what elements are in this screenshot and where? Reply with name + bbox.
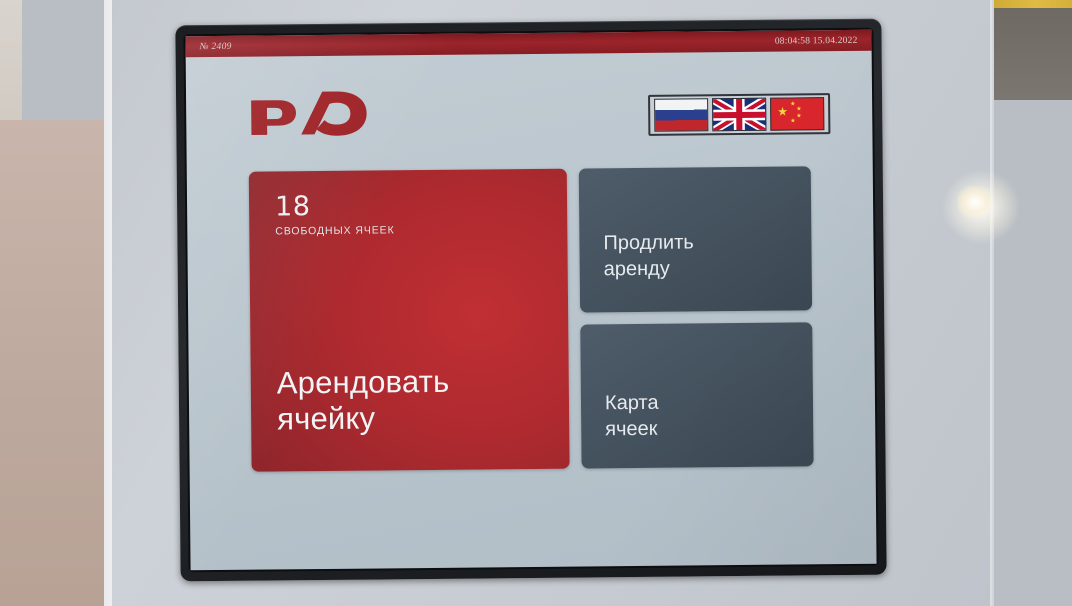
- main-menu: 18 СВОБОДНЫХ ЯЧЕЕК Арендовать ячейку Про…: [249, 166, 814, 471]
- housing-glare-hotspot: [957, 186, 993, 218]
- rent-cell-button[interactable]: 18 СВОБОДНЫХ ЯЧЕЕК Арендовать ячейку: [249, 169, 570, 472]
- touchscreen[interactable]: № 2409 08:04:58 15.04.2022: [185, 30, 876, 571]
- free-cells-label: СВОБОДНЫХ ЯЧЕЕК: [275, 225, 394, 237]
- cell-map-button[interactable]: Карта ячеек: [580, 322, 813, 468]
- free-cells-count: 18: [275, 193, 311, 220]
- flag-china-icon[interactable]: ★ ★★ ★★: [770, 97, 824, 131]
- photo-scene: № 2409 08:04:58 15.04.2022: [0, 0, 1072, 606]
- background-wall-upper-left: [0, 0, 22, 140]
- monitor-inner-bezel: № 2409 08:04:58 15.04.2022: [183, 28, 878, 573]
- terminal-number: № 2409: [200, 41, 232, 51]
- monitor-bezel: № 2409 08:04:58 15.04.2022: [175, 19, 886, 582]
- rent-cell-label: Арендовать ячейку: [277, 364, 450, 438]
- rzd-logo-icon: [248, 88, 370, 139]
- flag-uk-icon[interactable]: [712, 98, 766, 132]
- flag-russia-icon[interactable]: [654, 98, 708, 132]
- extend-rental-label: Продлить аренду: [603, 229, 694, 282]
- clock-readout: 08:04:58 15.04.2022: [775, 35, 858, 46]
- cell-map-label: Карта ячеек: [605, 390, 659, 443]
- language-selector[interactable]: ★ ★★ ★★: [648, 93, 830, 136]
- background-wall-left: [0, 120, 112, 606]
- screen-header: ★ ★★ ★★: [186, 51, 873, 162]
- extend-rental-button[interactable]: Продлить аренду: [579, 166, 812, 312]
